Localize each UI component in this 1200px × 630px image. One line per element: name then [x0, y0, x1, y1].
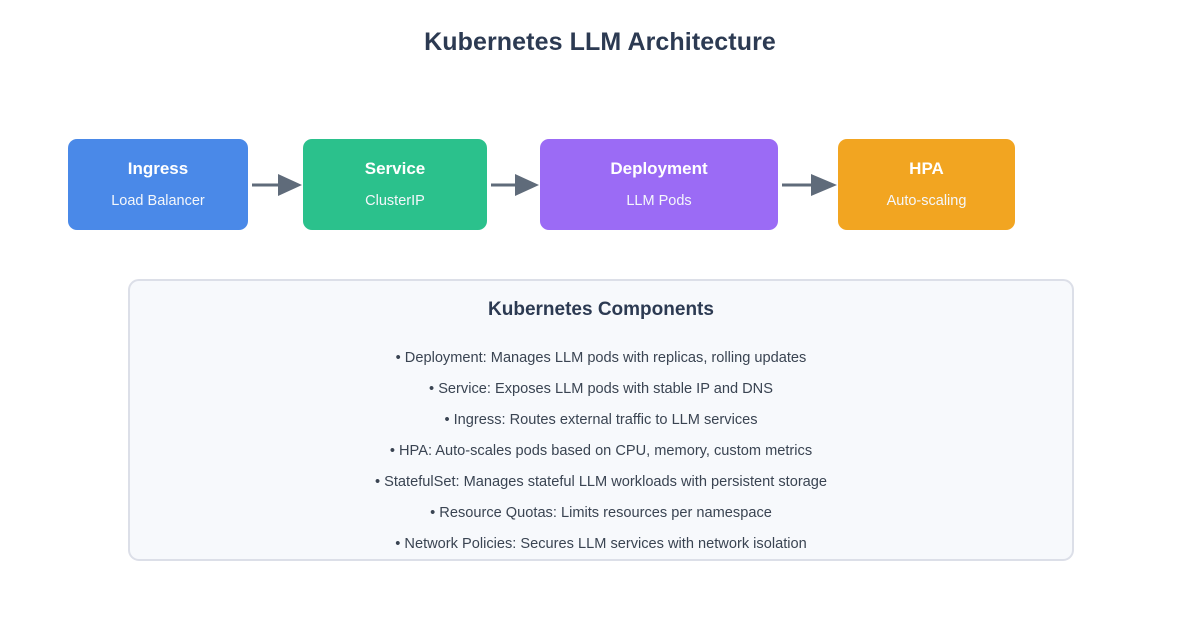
flow-node-title: HPA — [909, 160, 944, 177]
arrow-right-icon — [252, 169, 302, 201]
flow-node-service[interactable]: Service ClusterIP — [303, 139, 487, 230]
list-item: • Resource Quotas: Limits resources per … — [130, 498, 1072, 529]
list-item: • Network Policies: Secures LLM services… — [130, 529, 1072, 560]
page-title: Kubernetes LLM Architecture — [0, 28, 1200, 57]
flow-node-title: Service — [365, 160, 426, 177]
flow-node-subtitle: Auto-scaling — [887, 194, 967, 209]
list-item: • HPA: Auto-scales pods based on CPU, me… — [130, 436, 1072, 467]
flow-node-title: Ingress — [128, 160, 188, 177]
flow-node-deployment[interactable]: Deployment LLM Pods — [540, 139, 778, 230]
components-panel-heading: Kubernetes Components — [130, 299, 1072, 321]
flow-node-title: Deployment — [610, 160, 707, 177]
flow-node-subtitle: ClusterIP — [365, 194, 425, 209]
architecture-flow-row: Ingress Load Balancer Service ClusterIP … — [0, 139, 1200, 231]
flow-node-subtitle: Load Balancer — [111, 194, 205, 209]
flow-node-hpa[interactable]: HPA Auto-scaling — [838, 139, 1015, 230]
arrow-right-icon — [491, 169, 539, 201]
flow-node-ingress[interactable]: Ingress Load Balancer — [68, 139, 248, 230]
list-item: • Service: Exposes LLM pods with stable … — [130, 374, 1072, 405]
arrow-right-icon — [782, 169, 837, 201]
list-item: • StatefulSet: Manages stateful LLM work… — [130, 467, 1072, 498]
list-item: • Ingress: Routes external traffic to LL… — [130, 405, 1072, 436]
list-item: • Deployment: Manages LLM pods with repl… — [130, 343, 1072, 374]
components-panel: Kubernetes Components • Deployment: Mana… — [128, 279, 1074, 561]
components-list: • Deployment: Manages LLM pods with repl… — [130, 343, 1072, 560]
flow-node-subtitle: LLM Pods — [626, 194, 691, 209]
